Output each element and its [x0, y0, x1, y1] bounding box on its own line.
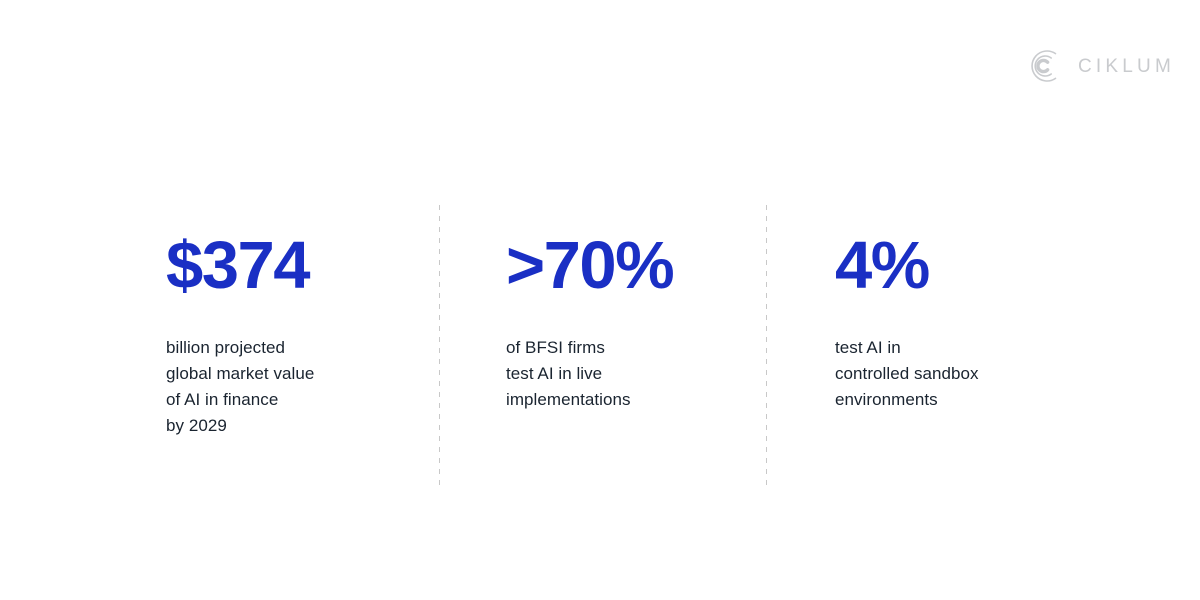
- stat-description-line: test AI in live: [506, 361, 631, 387]
- stat-description-2: of BFSI firms test AI in live implementa…: [506, 335, 631, 413]
- column-divider-1: [439, 205, 440, 488]
- brand-wordmark: CIKLUM: [1078, 57, 1175, 76]
- stat-description-3: test AI in controlled sandbox environmen…: [835, 335, 979, 413]
- stat-description-line: of AI in finance: [166, 387, 314, 413]
- stat-description-line: environments: [835, 387, 979, 413]
- stat-value-3: 4%: [835, 232, 929, 299]
- stat-block-2: >70% of BFSI firms test AI in live imple…: [506, 205, 746, 488]
- stat-description-line: implementations: [506, 387, 631, 413]
- stats-band: $374 billion projected global market val…: [0, 205, 1200, 488]
- stat-block-3: 4% test AI in controlled sandbox environ…: [835, 205, 1085, 488]
- stat-description-line: of BFSI firms: [506, 335, 631, 361]
- stat-description-line: global market value: [166, 361, 314, 387]
- stat-block-1: $374 billion projected global market val…: [166, 205, 416, 488]
- stat-description-1: billion projected global market value of…: [166, 335, 314, 439]
- brand-logo: CIKLUM: [1028, 48, 1175, 84]
- stat-description-line: billion projected: [166, 335, 314, 361]
- stat-value-2: >70%: [506, 232, 673, 299]
- ciklum-c-arcs-icon: [1028, 48, 1064, 84]
- stat-description-line: controlled sandbox: [835, 361, 979, 387]
- stat-description-line: test AI in: [835, 335, 979, 361]
- column-divider-2: [766, 205, 767, 488]
- stat-value-1: $374: [166, 232, 309, 299]
- stat-description-line: by 2029: [166, 413, 314, 439]
